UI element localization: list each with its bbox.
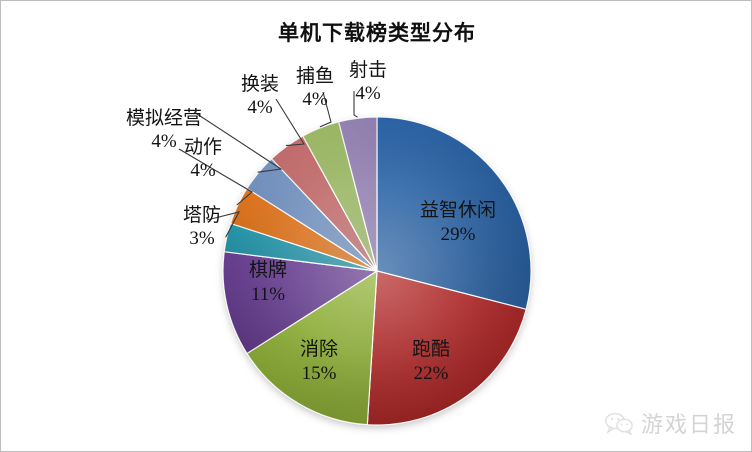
pie-chart-area [1, 1, 752, 452]
leader-line-动作 [179, 149, 252, 205]
pie-chart-image: 单机下载榜类型分布 益智休闲 29% 跑酷 22% [0, 0, 752, 452]
leader-line-射击 [354, 91, 358, 117]
pie-svg [1, 1, 752, 452]
leader-line-捕鱼 [320, 92, 331, 127]
pie-sheen-overlay [223, 117, 531, 425]
